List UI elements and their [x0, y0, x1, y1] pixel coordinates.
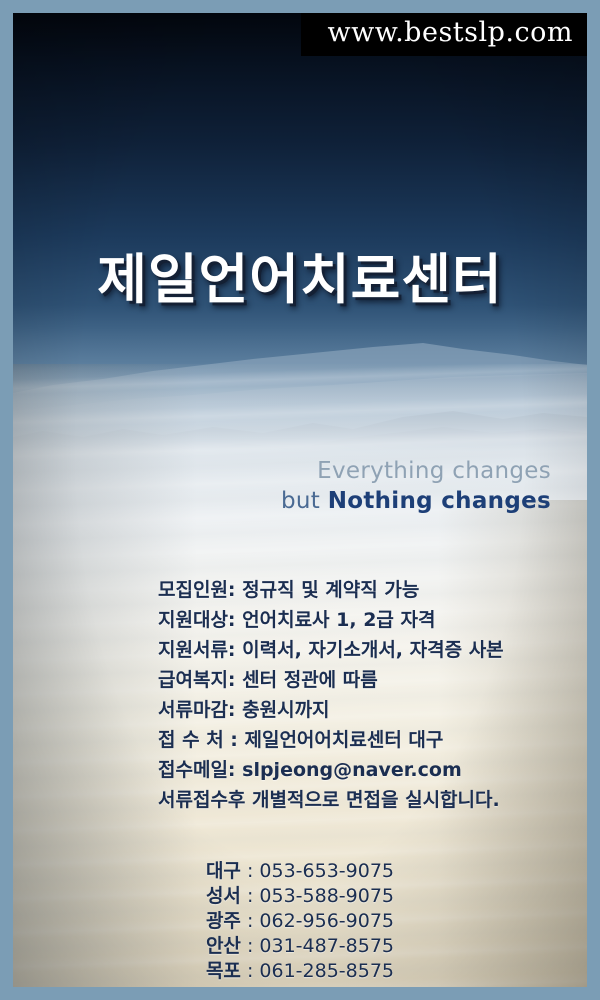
info-row-salary: 급여복지: 센터 정관에 따름	[158, 665, 504, 695]
center-title: 제일언어치료센터	[13, 235, 587, 314]
phone-number-mokpo: 061-285-8575	[259, 960, 394, 982]
info-row-headcount: 모집인원: 정규직 및 계약직 가능	[158, 575, 504, 605]
info-row-documents: 지원서류: 이력서, 자기소개서, 자격증 사본	[158, 635, 504, 665]
phone-row-ansan[interactable]: 안산 : 031-487-8575	[13, 934, 587, 959]
info-row-note: 서류접수후 개별적으로 면접을 실시합니다.	[158, 785, 504, 815]
website-url[interactable]: www.bestslp.com	[301, 13, 587, 56]
phone-sep: :	[247, 910, 259, 932]
phone-city-mokpo: 목포	[206, 960, 241, 982]
info-row-email[interactable]: 접수메일: slpjeong@naver.com	[158, 755, 504, 785]
phone-number-gwangju: 062-956-9075	[259, 910, 394, 932]
poster-frame: www.bestslp.com 제일언어치료센터 Everything chan…	[0, 0, 600, 1000]
phone-row-seongseo[interactable]: 성서 : 053-588-9075	[13, 884, 587, 909]
phone-number-ansan: 031-487-8575	[259, 935, 394, 957]
background-photo: www.bestslp.com 제일언어치료센터 Everything chan…	[13, 13, 587, 987]
recruitment-details: 모집인원: 정규직 및 계약직 가능 지원대상: 언어치료사 1, 2급 자격 …	[158, 575, 504, 815]
phone-number-daegu: 053-653-9075	[259, 860, 394, 882]
tagline-but: but	[281, 488, 328, 514]
tagline-line-2: but Nothing changes	[281, 486, 551, 516]
info-row-deadline: 서류마감: 충원시까지	[158, 695, 504, 725]
info-row-eligibility: 지원대상: 언어치료사 1, 2급 자격	[158, 605, 504, 635]
phone-sep: :	[247, 885, 259, 907]
phone-city-seongseo: 성서	[206, 885, 241, 907]
branch-phone-list: 대구 : 053-653-9075 성서 : 053-588-9075 광주 :…	[13, 859, 587, 984]
phone-city-gwangju: 광주	[206, 910, 241, 932]
phone-city-ansan: 안산	[206, 935, 241, 957]
phone-sep: :	[247, 935, 259, 957]
tagline-line-1: Everything changes	[281, 456, 551, 486]
phone-row-gwangju[interactable]: 광주 : 062-956-9075	[13, 909, 587, 934]
phone-sep: :	[247, 960, 259, 982]
phone-row-daegu[interactable]: 대구 : 053-653-9075	[13, 859, 587, 884]
phone-row-mokpo[interactable]: 목포 : 061-285-8575	[13, 959, 587, 984]
phone-city-daegu: 대구	[206, 860, 241, 882]
tagline-nothing-changes: Nothing changes	[328, 488, 551, 514]
phone-number-seongseo: 053-588-9075	[259, 885, 394, 907]
english-tagline: Everything changes but Nothing changes	[281, 456, 551, 517]
info-row-location: 접 수 처 : 제일언어어치료센터 대구	[158, 725, 504, 755]
phone-sep: :	[247, 860, 259, 882]
